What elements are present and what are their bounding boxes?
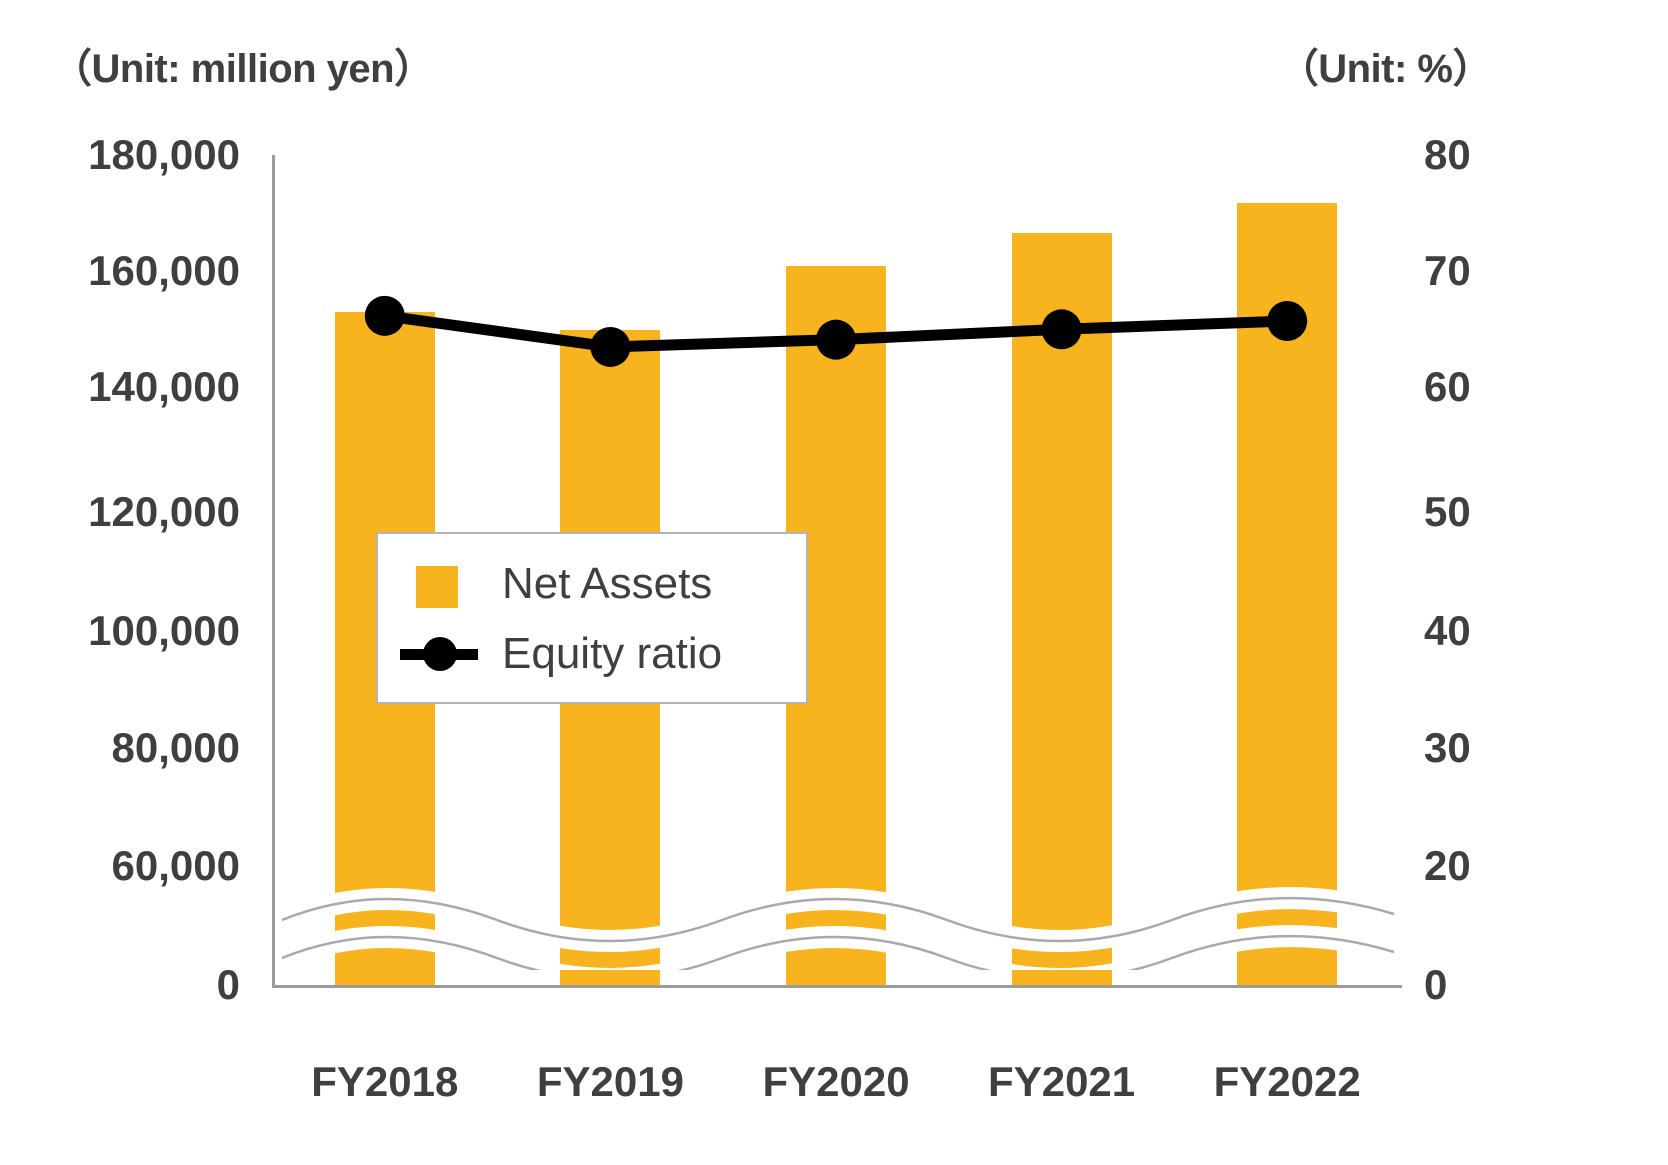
x-label-fy2022: FY2022 (1214, 1058, 1361, 1106)
marker-fy2021[interactable] (1042, 309, 1082, 349)
left-axis-tick-180000: 180,000 (88, 134, 240, 176)
left-axis-tick-60000: 60,000 (112, 845, 240, 887)
legend-item-equity-ratio[interactable]: Equity ratio (378, 618, 806, 690)
right-axis-tick-40: 40 (1424, 610, 1471, 652)
marker-fy2018[interactable] (365, 296, 405, 336)
legend-item-net-assets[interactable]: Net Assets (378, 548, 806, 620)
left-axis-tick-80000: 80,000 (112, 727, 240, 769)
marker-fy2022[interactable] (1267, 301, 1307, 341)
right-axis-tick-50: 50 (1424, 491, 1471, 533)
x-label-fy2018: FY2018 (311, 1058, 458, 1106)
circle-marker-icon (423, 637, 457, 671)
legend-label-net-assets: Net Assets (502, 562, 712, 606)
x-axis-category-labels: FY2018FY2019FY2020FY2021FY2022 (272, 1058, 1402, 1118)
square-swatch-icon (416, 566, 458, 608)
legend-key-bar (378, 548, 502, 620)
left-axis-tick-120000: 120,000 (88, 491, 240, 533)
marker-fy2019[interactable] (590, 327, 630, 367)
chart-container: （Unit: million yen） （Unit: %） 180,000 16… (0, 0, 1668, 1165)
legend-key-line (378, 618, 502, 690)
right-axis-tick-80: 80 (1424, 134, 1471, 176)
left-axis-tick-0: 0 (217, 964, 240, 1006)
right-axis: 80 70 60 50 40 30 20 0 (1424, 0, 1554, 1165)
x-axis-line (272, 985, 1402, 988)
right-axis-tick-20: 20 (1424, 845, 1471, 887)
right-axis-tick-60: 60 (1424, 366, 1471, 408)
left-axis: 180,000 160,000 140,000 120,000 100,000 … (40, 0, 240, 1165)
left-axis-tick-100000: 100,000 (88, 610, 240, 652)
right-axis-tick-0: 0 (1424, 964, 1447, 1006)
right-axis-tick-30: 30 (1424, 727, 1471, 769)
marker-fy2020[interactable] (816, 320, 856, 360)
x-label-fy2019: FY2019 (537, 1058, 684, 1106)
x-label-fy2020: FY2020 (762, 1058, 909, 1106)
legend-label-equity-ratio: Equity ratio (502, 632, 722, 676)
left-axis-tick-140000: 140,000 (88, 366, 240, 408)
x-label-fy2021: FY2021 (988, 1058, 1135, 1106)
left-axis-tick-160000: 160,000 (88, 250, 240, 292)
chart-legend: Net Assets Equity ratio (376, 532, 808, 704)
right-axis-tick-70: 70 (1424, 250, 1471, 292)
